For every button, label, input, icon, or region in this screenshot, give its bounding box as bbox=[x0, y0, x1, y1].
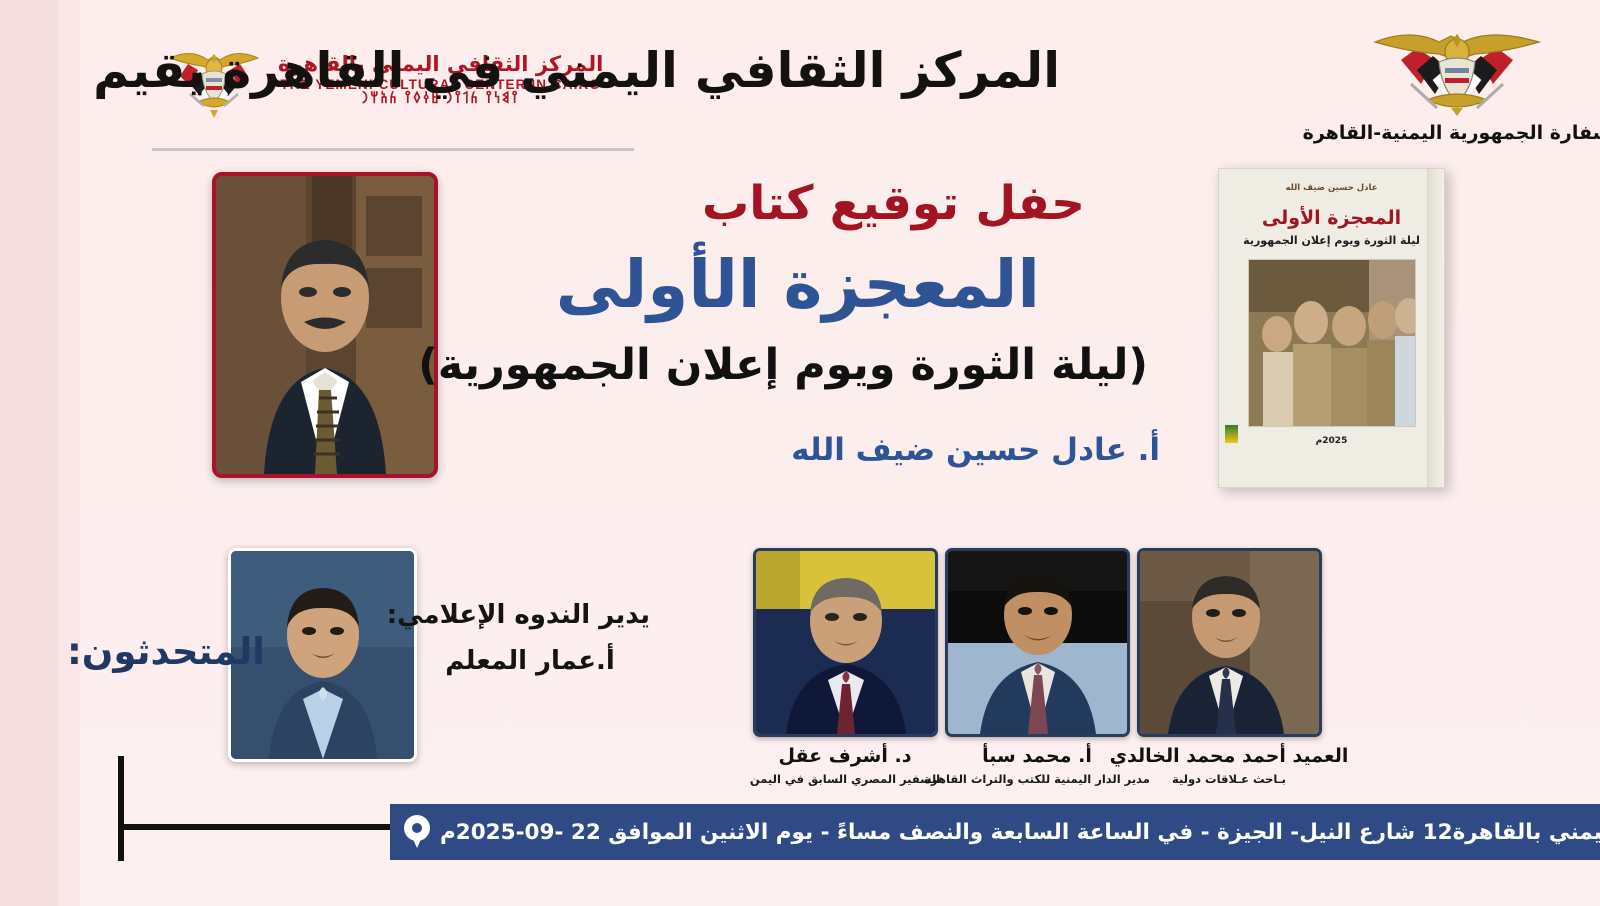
speaker-role: مدير الدار اليمنية للكتب والتراث القاهرة bbox=[924, 772, 1150, 786]
corner-bracket-horizontal bbox=[118, 824, 394, 830]
yemen-embassy-emblem-icon bbox=[1359, 20, 1555, 120]
speakers-label: المتحدثون: bbox=[67, 630, 265, 673]
speakers-list: د. أشرف عقل السفير المصري السابق في اليم… bbox=[755, 548, 1335, 798]
book-cover-subtitle: ليلة الثورة ويوم إعلان الجمهورية bbox=[1243, 234, 1420, 247]
speaker-portrait-photo bbox=[753, 548, 938, 737]
book-title: المعجزة الأولى bbox=[556, 246, 1040, 323]
book-cover-photo bbox=[1248, 259, 1416, 427]
left-decorative-band-secondary bbox=[58, 0, 80, 906]
footer-info-bar: يقام بمقر المركز الثقافي اليمني بالقاهرة… bbox=[390, 804, 1600, 860]
speaker-card: د. أشرف عقل السفير المصري السابق في اليم… bbox=[755, 548, 935, 786]
speaker-card: أ. محمد سبأ مدير الدار اليمنية للكتب وال… bbox=[947, 548, 1127, 786]
book-cover-title: المعجزة الأولى bbox=[1262, 207, 1401, 229]
embassy-logo: سفارة الجمهورية اليمنية-القاهرة bbox=[1332, 20, 1582, 144]
speaker-role: السفير المصري السابق في اليمن bbox=[750, 772, 940, 786]
speaker-name: العميد أحمد محمد الخالدي bbox=[1110, 745, 1349, 767]
corner-bracket-vertical bbox=[118, 756, 124, 861]
moderator-label: يدير الندوه الإعلامي: bbox=[410, 600, 650, 630]
speaker-name: د. أشرف عقل bbox=[779, 745, 912, 767]
moderator-name: أ.عمار المعلم bbox=[410, 646, 650, 676]
speaker-name: أ. محمد سبأ bbox=[982, 745, 1092, 767]
event-type-title: حفل توقيع كتاب bbox=[702, 176, 1085, 231]
author-portrait-photo bbox=[212, 172, 438, 478]
left-decorative-band bbox=[0, 0, 58, 906]
book-subtitle: (ليلة الثورة ويوم إعلان الجمهورية) bbox=[418, 340, 1148, 390]
moderator-text-block: يدير الندوه الإعلامي: أ.عمار المعلم bbox=[410, 600, 650, 676]
speaker-role: بـاحث عـلاقات دولية bbox=[1172, 772, 1286, 786]
page-title: المركز الثقافي اليمني في القاهرة يقيم bbox=[93, 42, 1060, 99]
header-divider-rule bbox=[152, 148, 634, 151]
embassy-caption: سفارة الجمهورية اليمنية-القاهرة bbox=[1303, 122, 1600, 144]
poster-root: المركز الثقافي اليمني بالقاهرة THE YEMEN… bbox=[0, 0, 1600, 906]
speaker-card: العميد أحمد محمد الخالدي بـاحث عـلاقات د… bbox=[1139, 548, 1319, 786]
speaker-portrait-photo bbox=[1137, 548, 1322, 737]
book-cover-year: 2025م bbox=[1316, 436, 1348, 446]
publisher-logo-icon bbox=[1225, 425, 1238, 443]
location-pin-icon bbox=[404, 815, 430, 849]
footer-venue-time-text: يقام بمقر المركز الثقافي اليمني بالقاهرة… bbox=[440, 820, 1600, 845]
book-cover-byline: عادل حسين ضيف الله bbox=[1285, 183, 1377, 193]
book-author-name: أ. عادل حسين ضيف الله bbox=[791, 432, 1160, 468]
book-spine bbox=[1427, 169, 1444, 487]
speaker-portrait-photo bbox=[945, 548, 1130, 737]
book-cover-image: المعجزة الأولى - ليلة الثورة ويوم إعلان … bbox=[1218, 168, 1445, 488]
